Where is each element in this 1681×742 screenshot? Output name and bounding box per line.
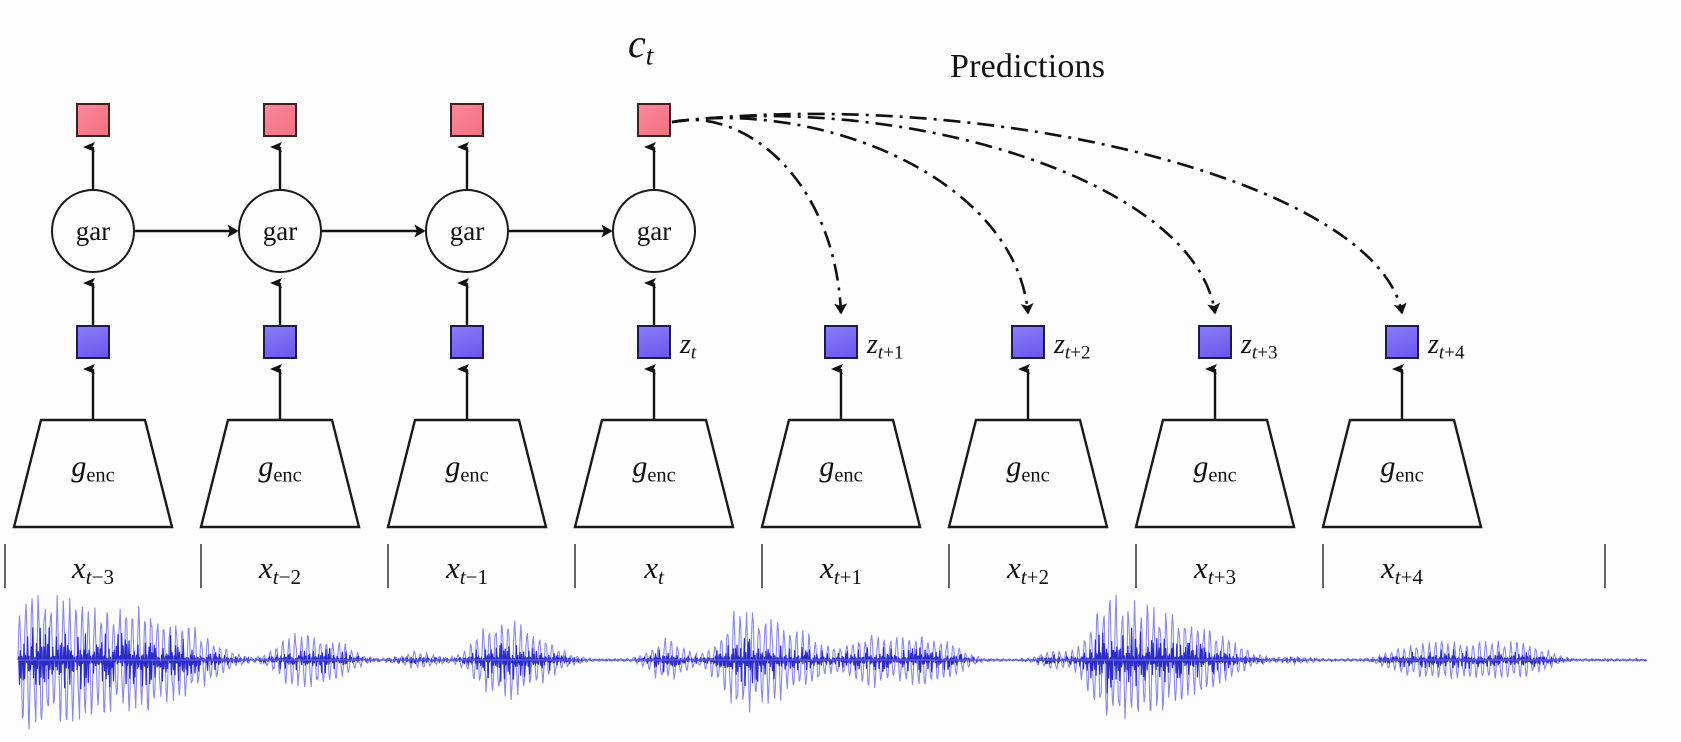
latent-vector-box <box>1011 325 1045 359</box>
encoder-node-label-6: genc <box>1167 452 1263 486</box>
latent-vector-box <box>637 325 671 359</box>
context-vector-box <box>637 103 671 137</box>
latent-label-5: zt+2 <box>1054 331 1090 362</box>
encoder-node-label-7: genc <box>1354 452 1450 486</box>
waveform-svg <box>0 586 1681 742</box>
latent-vector-box <box>1385 325 1419 359</box>
input-segment-label-5: xt+2 <box>958 552 1098 588</box>
segment-divider-0 <box>4 544 6 588</box>
segment-divider-2 <box>387 544 389 588</box>
prediction-arc <box>672 116 1215 313</box>
latent-vector-box <box>450 325 484 359</box>
context-vector-box <box>263 103 297 137</box>
autoregressive-node-1: gar <box>238 189 322 273</box>
encoder-node-label-4: genc <box>793 452 889 486</box>
autoregressive-node-3: gar <box>612 189 696 273</box>
input-segment-label-0: xt−3 <box>23 552 163 588</box>
prediction-arc <box>672 118 1028 313</box>
input-segment-label-7: xt+4 <box>1332 552 1472 588</box>
autoregressive-node-0: gar <box>51 189 135 273</box>
input-segment-label-1: xt−2 <box>210 552 350 588</box>
predictions-label: Predictions <box>950 50 1105 84</box>
autoregressive-node-label: gar <box>450 216 484 247</box>
latent-vector-box <box>824 325 858 359</box>
input-segment-label-4: xt+1 <box>771 552 911 588</box>
context-vector-box <box>76 103 110 137</box>
segment-divider-7 <box>1322 544 1324 588</box>
latent-label-3: zt <box>680 331 696 362</box>
input-segment-label-3: xt <box>584 552 724 588</box>
segment-divider-5 <box>948 544 950 588</box>
autoregressive-node-label: gar <box>637 216 671 247</box>
context-vector-label: ct <box>628 24 653 70</box>
latent-vector-box <box>1198 325 1232 359</box>
latent-label-7: zt+4 <box>1428 331 1464 362</box>
latent-label-6: zt+3 <box>1241 331 1277 362</box>
encoder-node-label-0: genc <box>45 452 141 486</box>
cpc-architecture-diagram: gargargargar gencgencgencgencgencgencgen… <box>0 0 1681 742</box>
input-segment-label-2: xt−1 <box>397 552 537 588</box>
latent-vector-box <box>76 325 110 359</box>
autoregressive-node-label: gar <box>76 216 110 247</box>
encoder-node-label-2: genc <box>419 452 515 486</box>
encoder-node-label-5: genc <box>980 452 1076 486</box>
prediction-arc <box>672 114 1402 313</box>
audio-waveform <box>0 586 1681 742</box>
segment-divider-3 <box>574 544 576 588</box>
latent-vector-box <box>263 325 297 359</box>
autoregressive-node-2: gar <box>425 189 509 273</box>
autoregressive-node-label: gar <box>263 216 297 247</box>
context-vector-box <box>450 103 484 137</box>
encoder-node-label-3: genc <box>606 452 702 486</box>
segment-divider-6 <box>1135 544 1137 588</box>
segment-divider-4 <box>761 544 763 588</box>
encoder-node-label-1: genc <box>232 452 328 486</box>
segment-divider-1 <box>200 544 202 588</box>
input-segment-label-6: xt+3 <box>1145 552 1285 588</box>
segment-divider-8 <box>1604 544 1606 588</box>
latent-label-4: zt+1 <box>867 331 903 362</box>
prediction-arc <box>672 120 841 313</box>
